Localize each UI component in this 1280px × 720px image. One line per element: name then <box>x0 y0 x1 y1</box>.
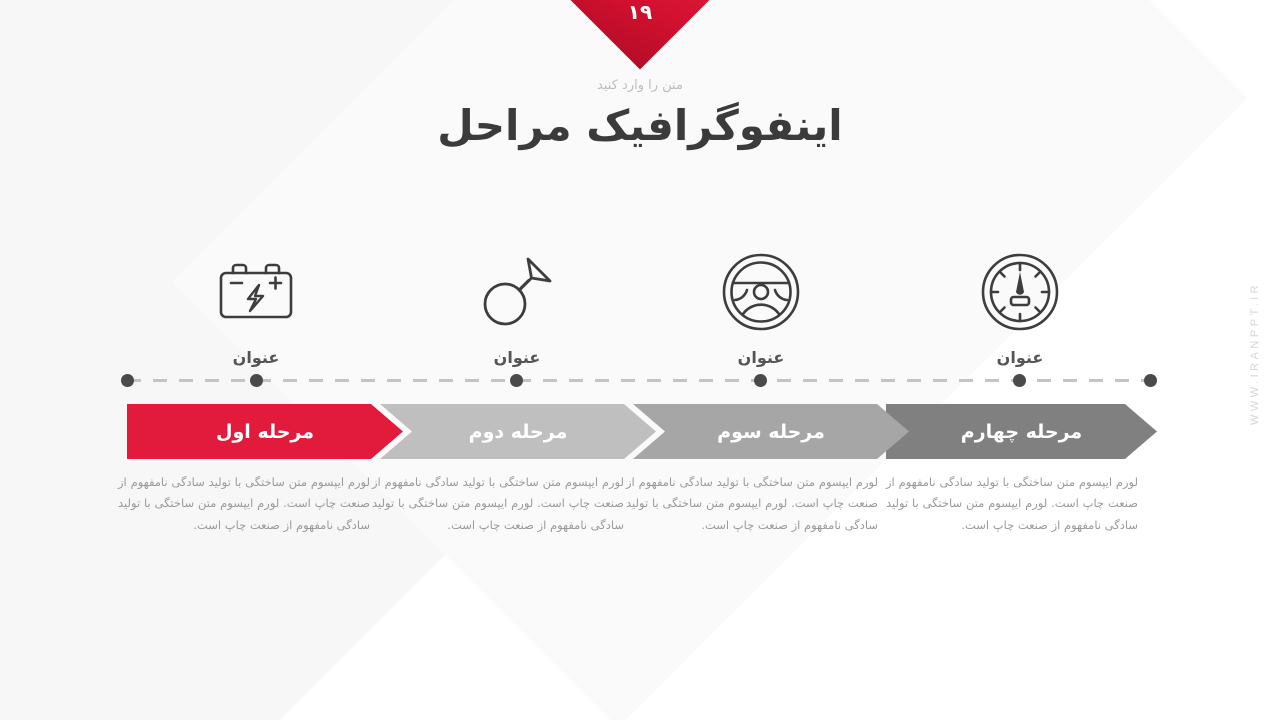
car-battery-icon <box>127 248 385 336</box>
step-banner-3[interactable]: مرحله سوم <box>633 404 909 459</box>
step-body-3: لورم ایپسوم متن ساختگی با تولید سادگی نا… <box>626 472 878 536</box>
timeline-dot-start <box>121 374 134 387</box>
step-banner-2[interactable]: مرحله دوم <box>380 404 656 459</box>
header: متن را وارد کنید اینفوگرافیک مراحل <box>0 78 1280 150</box>
car-horn-icon <box>388 248 646 336</box>
step-banner-bar: مرحله چهارم مرحله سوم مرحله دوم مرحله او… <box>0 404 1280 459</box>
step-body-1: لورم ایپسوم متن ساختگی با تولید سادگی نا… <box>118 472 370 536</box>
step-column-3[interactable]: عنوان <box>632 248 890 367</box>
timeline-dot-2 <box>510 374 523 387</box>
step-body-2: لورم ایپسوم متن ساختگی با تولید سادگی نا… <box>372 472 624 536</box>
step-banner-4[interactable]: مرحله چهارم <box>886 404 1157 459</box>
timeline-dot-4 <box>1013 374 1026 387</box>
step-column-4[interactable]: عنوان <box>891 248 1149 367</box>
steering-wheel-icon <box>632 248 890 336</box>
step-banner-1[interactable]: مرحله اول <box>127 404 403 459</box>
step-body-4: لورم ایپسوم متن ساختگی با تولید سادگی نا… <box>886 472 1138 536</box>
timeline-track <box>127 374 1151 387</box>
step-column-1[interactable]: عنوان <box>127 248 385 367</box>
timeline-dashed-line <box>127 379 1151 382</box>
step-label-3: عنوان <box>632 348 890 367</box>
slide-canvas: ۱۹ متن را وارد کنید اینفوگرافیک مراحل عن… <box>0 0 1280 720</box>
step-label-2: عنوان <box>388 348 646 367</box>
step-label-4: عنوان <box>891 348 1149 367</box>
site-watermark: WWW.IRANPPT.IR <box>1244 248 1266 458</box>
timeline-dot-end <box>1144 374 1157 387</box>
speedometer-icon <box>891 248 1149 336</box>
slide-number-text: ۱۹ <box>588 0 692 32</box>
slide-subtitle: متن را وارد کنید <box>0 78 1280 93</box>
timeline-dot-3 <box>754 374 767 387</box>
timeline-dot-1 <box>250 374 263 387</box>
step-label-1: عنوان <box>127 348 385 367</box>
step-column-2[interactable]: عنوان <box>388 248 646 367</box>
page-title: اینفوگرافیک مراحل <box>0 101 1280 150</box>
